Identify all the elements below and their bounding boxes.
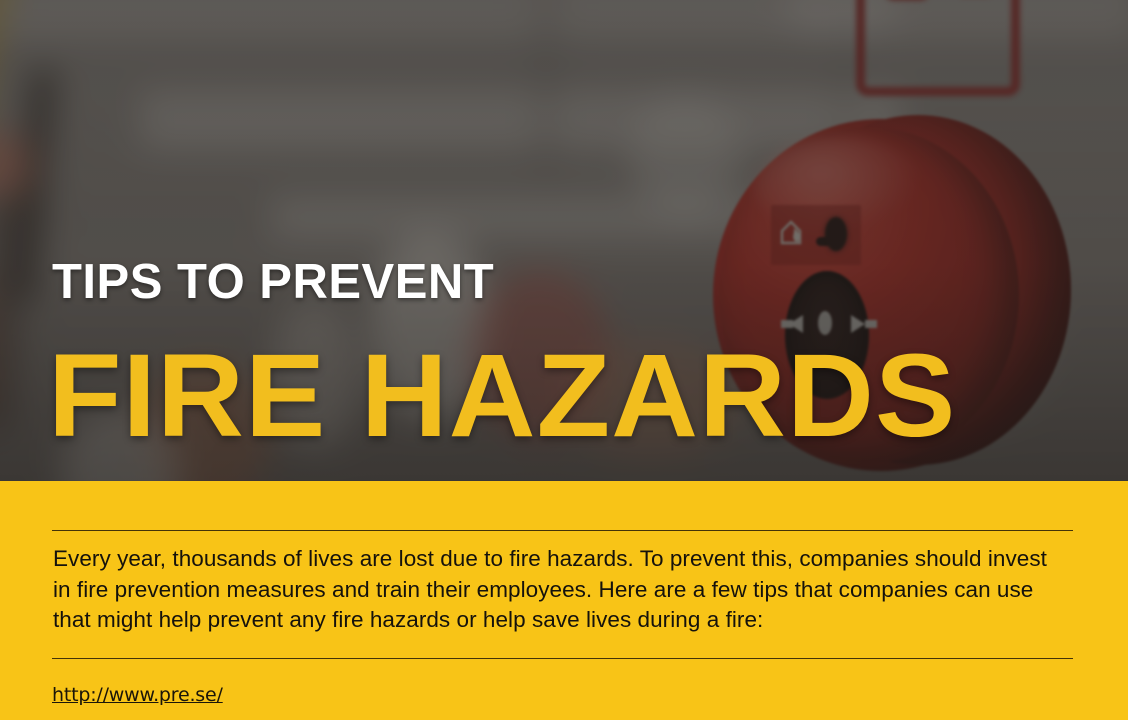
yellow-content-panel: Every year, thousands of lives are lost … — [0, 481, 1128, 720]
body-line: Every year, thousands of lives are lost … — [53, 544, 1073, 575]
divider-bottom — [52, 658, 1073, 659]
body-line: in fire prevention measures and train th… — [53, 575, 1073, 606]
body-paragraph: Every year, thousands of lives are lost … — [53, 544, 1073, 636]
source-link[interactable]: http://www.pre.se/ — [52, 684, 223, 706]
body-line: that might help prevent any fire hazards… — [53, 605, 1073, 636]
hero-title: FIRE HAZARDS — [48, 337, 956, 455]
hero-banner: TIPS TO PREVENT FIRE HAZARDS — [0, 0, 1128, 481]
divider-top — [52, 530, 1073, 531]
slide-canvas: TIPS TO PREVENT FIRE HAZARDS Every year,… — [0, 0, 1128, 720]
hero-kicker: TIPS TO PREVENT — [52, 258, 494, 307]
